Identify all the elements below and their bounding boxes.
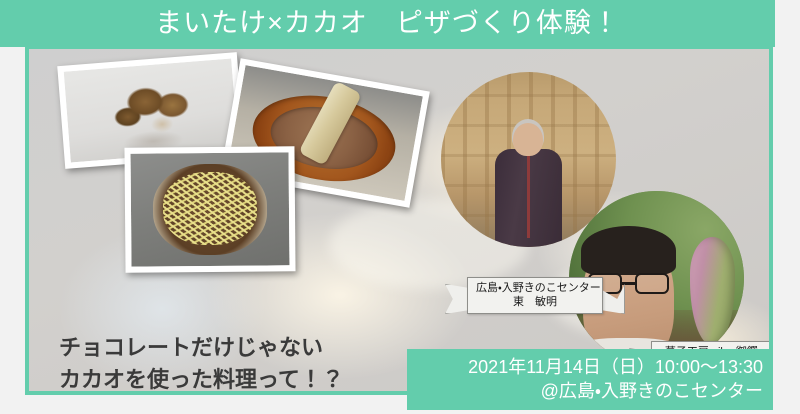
right-gutter [775,0,800,414]
event-poster: 広島・入野きのこセンター 東 敏明 菓子工房mike・御饌cacao 三宅 崇 … [0,0,800,414]
maitake-cacao-pizza-photo [124,146,295,272]
higashi-face [513,123,543,156]
higashi-jacket-stripe [527,151,530,239]
event-venue: @広島・入野きのこセンター [407,379,763,403]
body-copy-line-1: チョコレートだけじゃない [59,332,411,364]
poster-header-band: まいたけ×カカオ ピザづくり体験！ [0,0,775,47]
miyake-hair [581,226,676,275]
event-info-band: 2021年11月14日（日）10:00〜13:30 @広島・入野きのこセンター [407,349,773,410]
body-copy: チョコレートだけじゃない カカオを使った料理って！？ まいたけとカカオの異色のコ… [59,332,411,395]
event-datetime: 2021年11月14日（日）10:00〜13:30 [407,355,763,379]
poster-content-frame: 広島・入野きのこセンター 東 敏明 菓子工房mike・御饌cacao 三宅 崇 … [25,45,773,395]
ribbon-person-name: 東 敏明 [476,295,594,309]
body-copy-line-2: カカオを使った料理って！？ [59,364,411,395]
higashi-name-ribbon: 広島・入野きのこセンター 東 敏明 [467,277,603,314]
glasses-right-lens [635,273,669,294]
ribbon-plate: 広島・入野きのこセンター 東 敏明 [467,277,603,314]
pizza-cheese-shape [162,172,257,245]
ribbon-organization: 広島・入野きのこセンター [476,281,594,295]
page-title: まいたけ×カカオ ピザづくり体験！ [0,0,775,47]
glasses-bridge [622,282,635,285]
